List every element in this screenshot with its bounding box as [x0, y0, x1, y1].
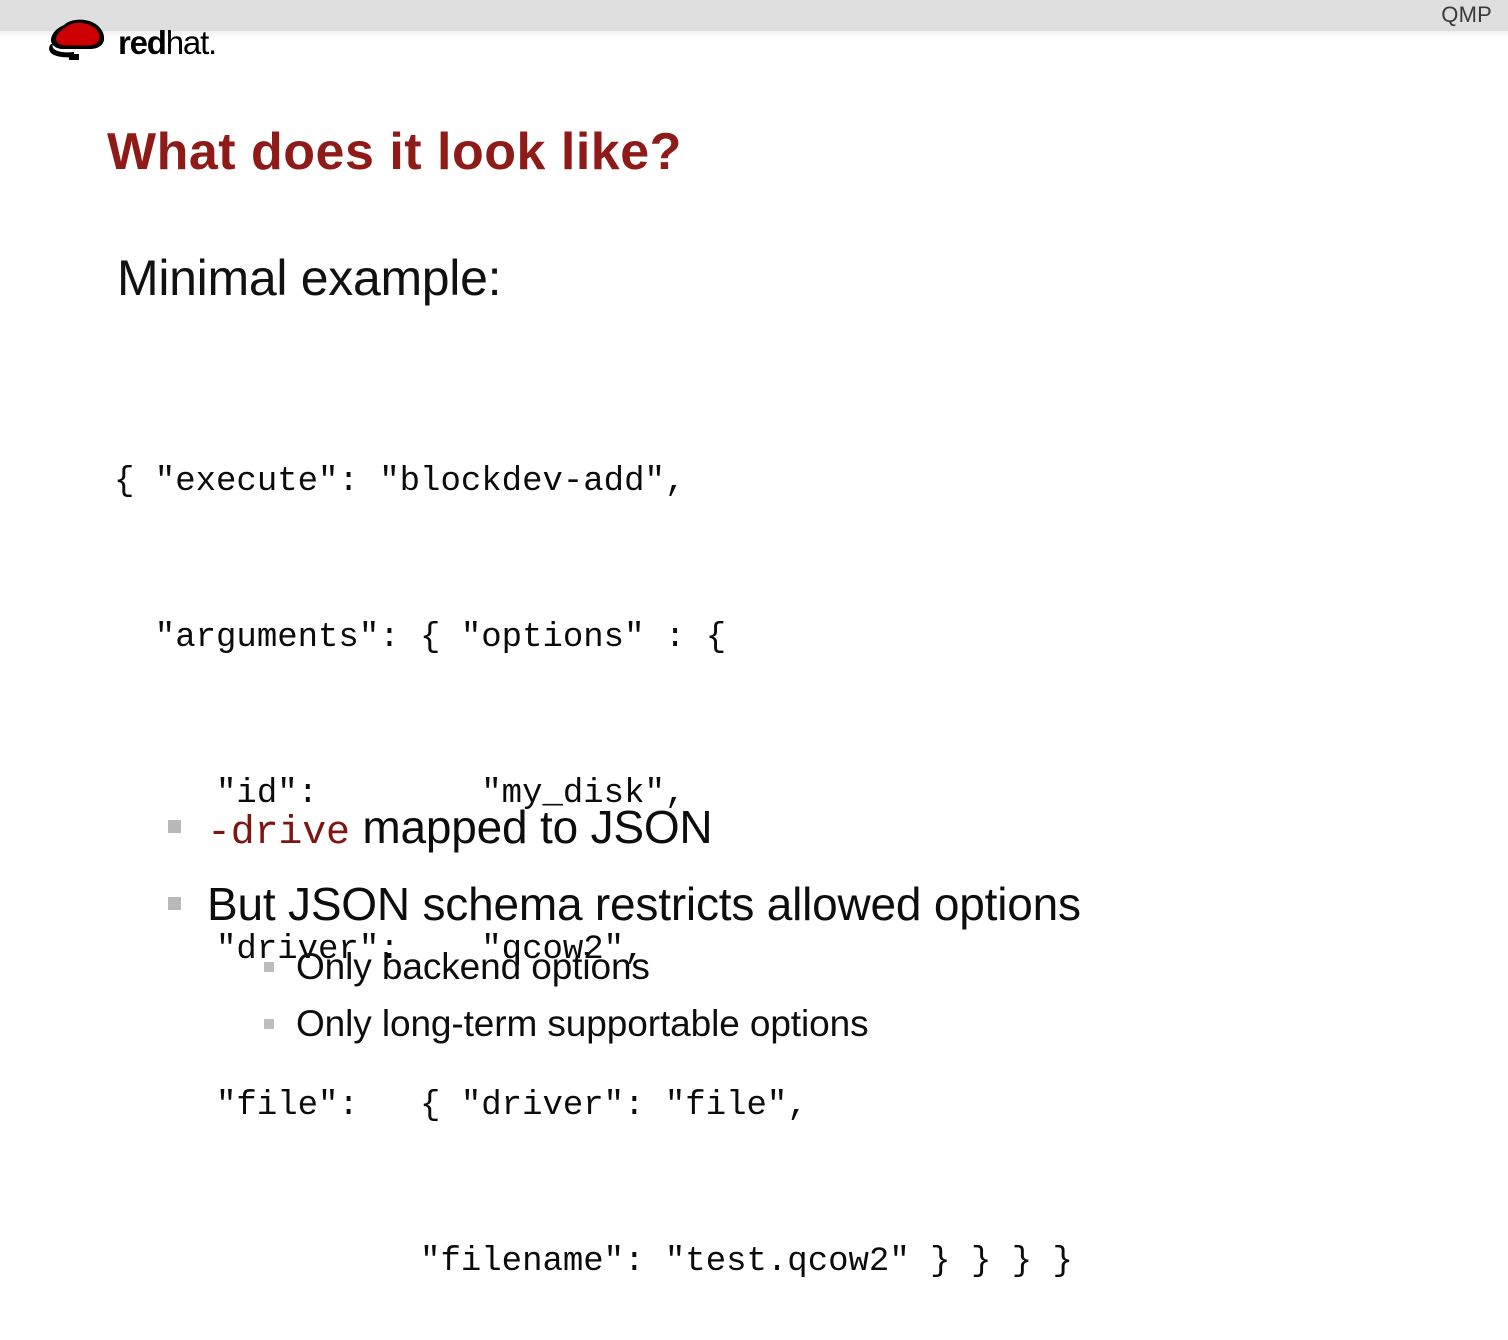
list-item: But JSON schema restricts allowed option…: [168, 869, 1408, 939]
code-line: "filename": "test.qcow2" } } } }: [114, 1236, 1073, 1288]
bullet-label: mapped to JSON: [350, 801, 713, 853]
code-line: "file": { "driver": "file",: [114, 1080, 1073, 1132]
redhat-logo-wordmark: redhat.: [118, 26, 216, 59]
header-topic-label: QMP: [1441, 2, 1492, 28]
list-item: -drive mapped to JSON: [168, 792, 1408, 869]
bullet-label: But JSON schema restricts allowed option…: [207, 878, 1081, 930]
sub-bullet-label: Only long-term supportable options: [296, 1003, 868, 1044]
list-item: Only backend options: [264, 938, 1264, 995]
bullet-square-icon: [168, 820, 181, 833]
bullet-square-icon: [264, 962, 274, 972]
bullet-square-icon: [264, 1019, 274, 1029]
logo-word-dot: .: [208, 24, 216, 61]
bullet-list-level1: -drive mapped to JSON But JSON schema re…: [168, 792, 1408, 939]
code-line: { "execute": "blockdev-add",: [114, 456, 1073, 508]
page-title: What does it look like?: [107, 121, 682, 183]
section-subtitle: Minimal example:: [117, 248, 501, 308]
bullet-square-icon: [168, 897, 181, 910]
bullet-code-token: -drive: [207, 811, 350, 856]
bullet-list-level2: Only backend options Only long-term supp…: [264, 938, 1264, 1052]
list-item: Only long-term supportable options: [264, 995, 1264, 1052]
code-line: "arguments": { "options" : {: [114, 612, 1073, 664]
redhat-shadowman-icon: [46, 18, 112, 62]
redhat-logo: redhat.: [46, 18, 246, 68]
logo-word-hat: hat: [166, 24, 208, 61]
logo-word-red: red: [118, 24, 166, 61]
sub-bullet-label: Only backend options: [296, 946, 650, 987]
